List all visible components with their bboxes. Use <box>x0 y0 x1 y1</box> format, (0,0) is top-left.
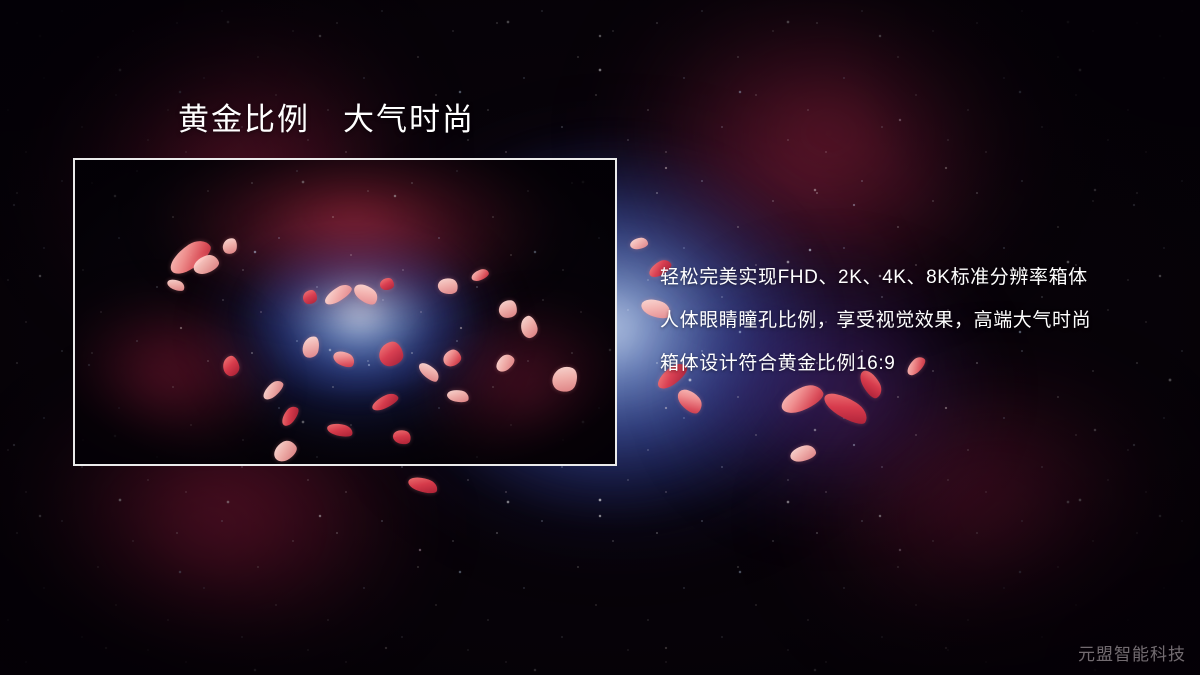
framed-preview-panel[interactable] <box>73 158 617 466</box>
page-title: 黄金比例 大气时尚 <box>178 101 475 140</box>
body-line-2: 人体眼睛瞳孔比例，享受视觉效果，高端大气时尚 <box>660 299 1160 342</box>
slide-root: 黄金比例 大气时尚 轻松完美实现FHD、2K、4K、8K标准分辨率箱体 人体眼睛… <box>0 0 1200 675</box>
panel-vignette <box>75 160 615 464</box>
watermark-logo-text: 元盟智能科技 <box>1078 640 1186 665</box>
body-line-1: 轻松完美实现FHD、2K、4K、8K标准分辨率箱体 <box>660 256 1160 299</box>
body-line-3: 箱体设计符合黄金比例16:9 <box>660 342 1160 385</box>
petal <box>303 290 317 304</box>
preview-panel-image <box>75 160 615 464</box>
corner-shadow-top-right <box>840 0 1200 300</box>
petal <box>380 278 394 290</box>
body-text-block: 轻松完美实现FHD、2K、4K、8K标准分辨率箱体 人体眼睛瞳孔比例，享受视觉效… <box>660 256 1160 385</box>
corner-shadow-bottom-right <box>780 375 1200 675</box>
